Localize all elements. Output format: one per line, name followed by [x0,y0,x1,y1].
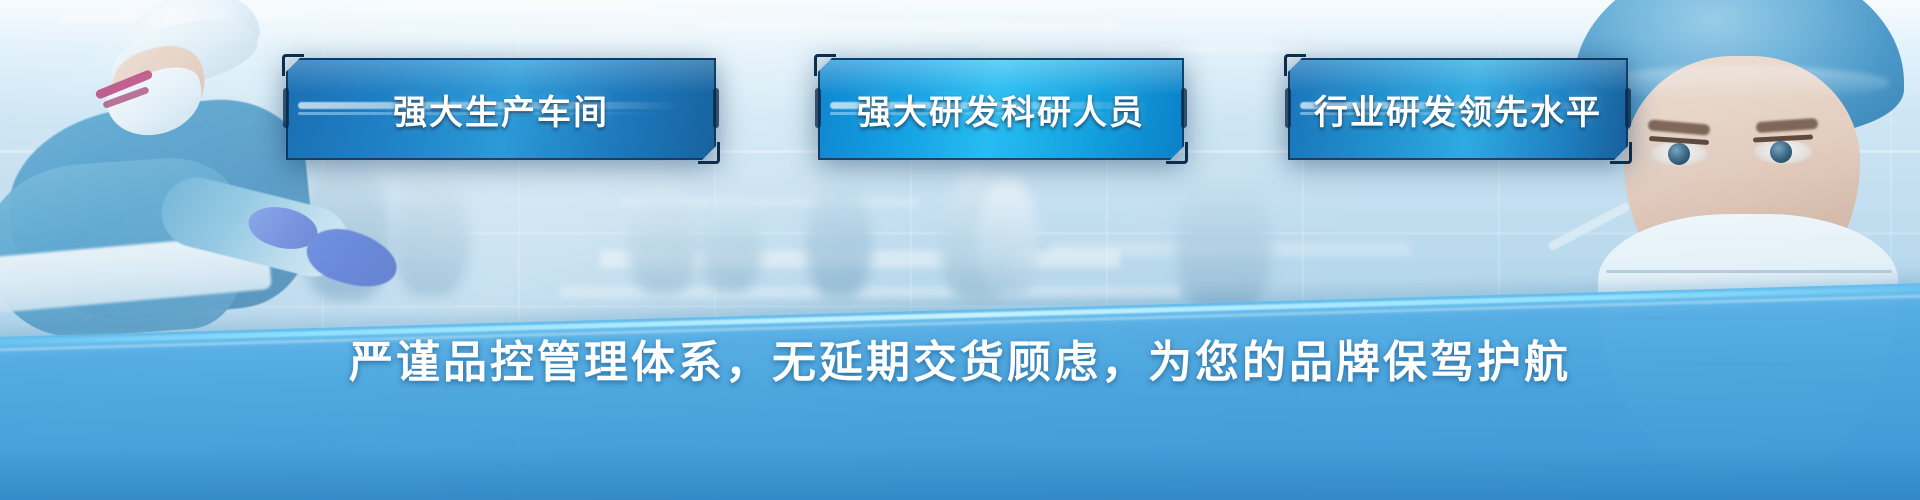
corner-bracket-icon [814,54,836,76]
banner-tagline: 严谨品控管理体系，无延期交货顾虑，为您的品牌保驾护航 [0,326,1920,390]
edge-notch-icon [1285,88,1291,128]
corner-bracket-icon [1284,54,1306,76]
corner-bracket-icon [282,54,304,76]
feature-button-label: 强大研发科研人员 [857,85,1145,134]
corner-bracket-icon [698,142,720,164]
edge-notch-icon [1625,88,1631,128]
feature-button-industry-leading-rnd[interactable]: 行业研发领先水平 [1288,58,1628,160]
feature-button-label: 行业研发领先水平 [1314,85,1602,134]
corner-bracket-icon [1166,142,1188,164]
edge-notch-icon [1181,88,1187,128]
feature-button-rnd-personnel[interactable]: 强大研发科研人员 [818,58,1184,160]
corner-bracket-icon [1610,142,1632,164]
feature-button-label: 强大生产车间 [393,85,609,134]
band-bottom-shading [0,448,1920,500]
hero-banner: 强大生产车间 强大研发科研人员 行业研发领先水平 严谨品控管理体系，无延期交货顾… [0,0,1920,500]
edge-notch-icon [713,88,719,128]
edge-notch-icon [283,88,289,128]
edge-notch-icon [815,88,821,128]
feature-button-production-workshop[interactable]: 强大生产车间 [286,58,716,160]
